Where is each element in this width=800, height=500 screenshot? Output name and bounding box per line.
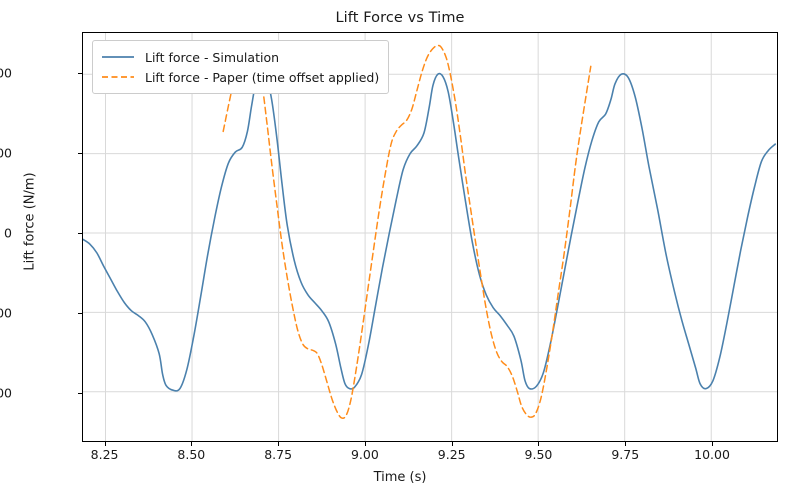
y-tick-label: 200 — [0, 66, 12, 81]
legend-item-simulation[interactable]: Lift force - Simulation — [101, 47, 379, 67]
x-tickmark — [365, 442, 366, 446]
x-tickmark — [538, 442, 539, 446]
legend-label-simulation: Lift force - Simulation — [145, 50, 279, 65]
legend-line-paper — [101, 70, 135, 84]
y-axis-label: Lift force (N/m) — [23, 12, 38, 432]
x-tickmark — [625, 442, 626, 446]
y-tickmark — [78, 313, 82, 314]
x-tick-label: 9.25 — [412, 447, 492, 462]
x-tickmark — [278, 442, 279, 446]
y-tickmark — [78, 153, 82, 154]
x-tick-label: 9.50 — [498, 447, 578, 462]
x-tickmark — [712, 442, 713, 446]
x-tick-label: 10.00 — [672, 447, 752, 462]
y-tickmark — [78, 233, 82, 234]
legend-line-simulation — [101, 50, 135, 64]
chart-legend[interactable]: Lift force - Simulation Lift force - Pap… — [92, 40, 389, 94]
x-tickmark — [105, 442, 106, 446]
y-tick-label: −100 — [0, 305, 12, 320]
x-tick-label: 8.75 — [238, 447, 318, 462]
series-line-simulation — [83, 74, 775, 391]
x-axis-label: Time (s) — [0, 470, 800, 485]
x-tick-label: 9.00 — [325, 447, 405, 462]
data-series-layer — [83, 33, 777, 441]
y-tick-label: 100 — [0, 146, 12, 161]
x-tick-label: 8.25 — [65, 447, 145, 462]
y-tickmark — [78, 393, 82, 394]
y-tick-label: 0 — [0, 226, 12, 241]
x-tickmark — [191, 442, 192, 446]
series-line-paper — [223, 46, 591, 419]
chart-title: Lift Force vs Time — [0, 10, 800, 26]
x-tickmark — [452, 442, 453, 446]
legend-item-paper[interactable]: Lift force - Paper (time offset applied) — [101, 67, 379, 87]
x-tick-label: 8.50 — [151, 447, 231, 462]
legend-label-paper: Lift force - Paper (time offset applied) — [145, 70, 379, 85]
chart-figure: Lift Force vs Time 8.258.508.759.009.259… — [0, 0, 800, 500]
y-tickmark — [78, 73, 82, 74]
y-tick-label: −200 — [0, 385, 12, 400]
x-tick-label: 9.75 — [585, 447, 665, 462]
